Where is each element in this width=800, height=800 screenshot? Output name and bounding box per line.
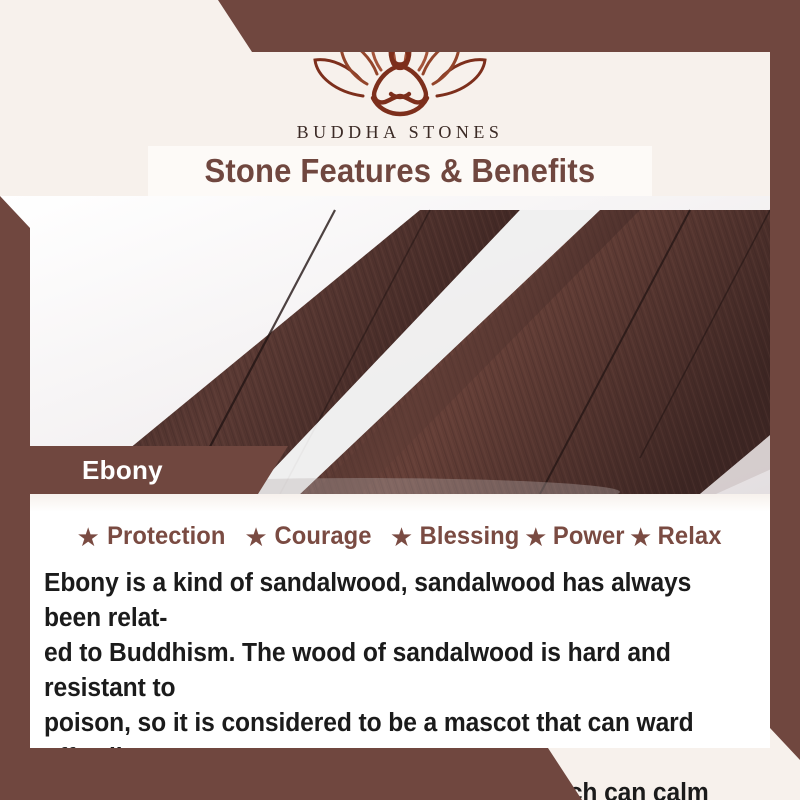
- star-icon: ★: [390, 524, 413, 550]
- star-icon: ★: [244, 524, 267, 550]
- title-banner: Stone Features & Benefits: [148, 146, 652, 196]
- infographic-card: BUDDHA STONES Stone Features & Benefits: [0, 0, 800, 800]
- benefits-row: ★ Protection ★ Courage ★ Blessing ★ Powe…: [30, 522, 770, 551]
- benefit-label: Power: [553, 522, 625, 551]
- product-label-band: Ebony: [30, 446, 288, 494]
- benefit-label: Courage: [274, 522, 371, 551]
- description-line: spirits. Ebony wood has a fragrant scent…: [44, 776, 731, 800]
- benefit-label: Blessing: [420, 522, 520, 551]
- benefit-item: ★ Courage: [244, 522, 373, 551]
- star-icon: ★: [629, 524, 652, 550]
- benefit-label: Relax: [658, 522, 722, 551]
- star-icon: ★: [524, 524, 547, 550]
- description-line: Ebony is a kind of sandalwood, sandalwoo…: [44, 566, 731, 636]
- page-title: Stone Features & Benefits: [205, 152, 596, 190]
- benefit-item: ★ Blessing: [390, 522, 522, 551]
- brand-logo: BUDDHA STONES: [0, 18, 800, 143]
- star-icon: ★: [76, 524, 99, 550]
- benefit-label: Protection: [107, 522, 225, 551]
- brand-name: BUDDHA STONES: [0, 122, 800, 143]
- benefit-item: ★ Protection: [76, 522, 228, 551]
- description-panel: ★ Protection ★ Courage ★ Blessing ★ Powe…: [30, 494, 770, 748]
- description-text: Ebony is a kind of sandalwood, sandalwoo…: [44, 566, 731, 800]
- lotus-meditation-icon: [0, 18, 800, 118]
- benefit-item: ★ Relax: [629, 522, 724, 551]
- description-line: ed to Buddhism. The wood of sandalwood i…: [44, 636, 731, 706]
- product-label: Ebony: [30, 455, 163, 486]
- description-line: poison, so it is considered to be a masc…: [44, 706, 731, 776]
- benefit-item: ★ Power: [524, 522, 627, 551]
